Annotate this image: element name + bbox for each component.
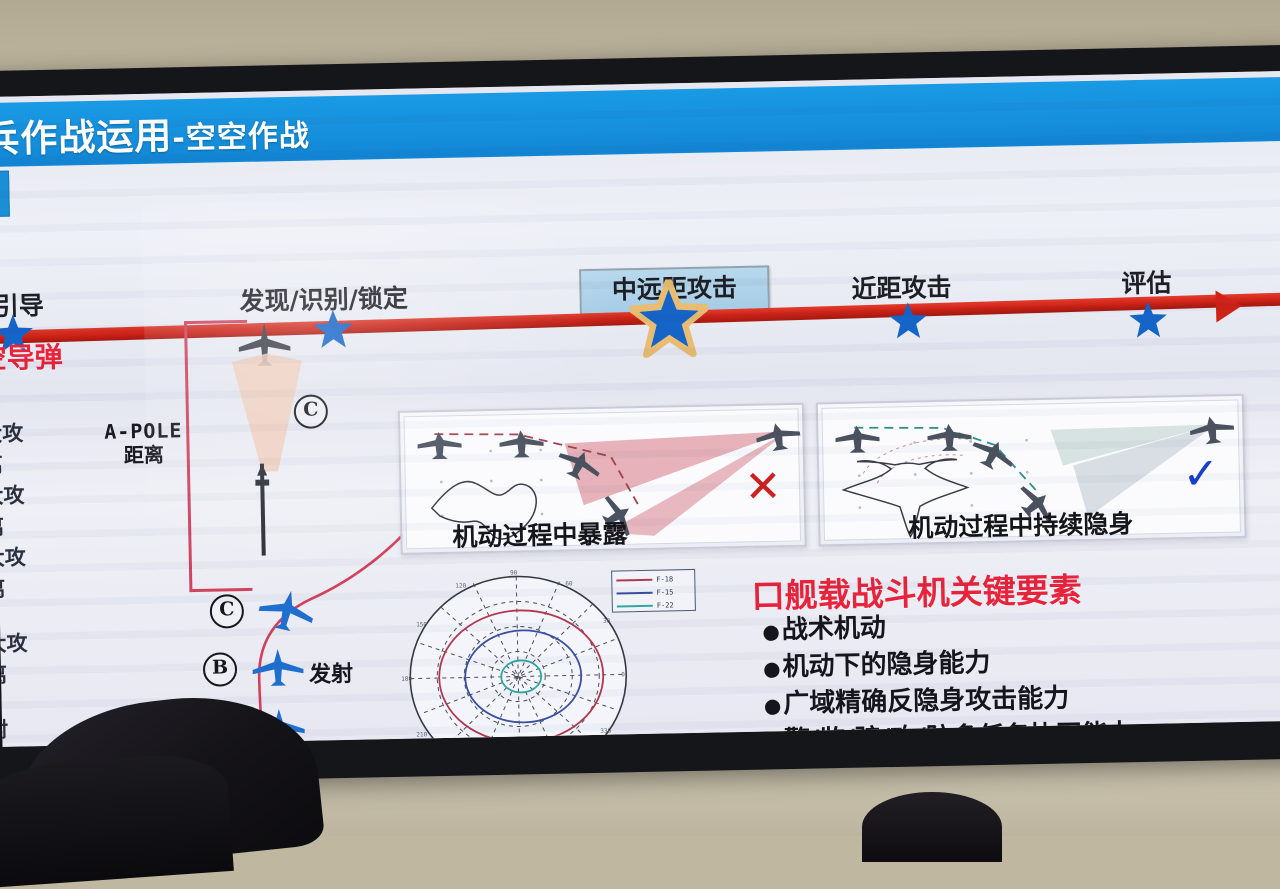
apole-label-en: A-POLE [104,418,183,444]
legend-swatch-2 [617,604,653,607]
legend-label-0: F-18 [656,575,673,583]
svg-text:60: 60 [565,580,573,587]
engagement-diagram: C C B 发射 A [174,318,433,747]
slide-title-separator: - [172,121,186,156]
panel-left-mark-icon: ✕ [744,465,782,510]
range-label-list: 最大攻 距离 最大攻 距离 最大攻 距离 最大攻 距离 发射 距离 [0,420,117,747]
range-label-2: 最大攻 [0,482,112,510]
legend-entry-2: F-22 [617,599,691,611]
timeline-stage-label-4: 评估 [1121,263,1172,300]
svg-text:30: 30 [603,618,611,625]
key-element-label-0: 战术机动 [781,613,886,645]
legend-label-2: F-22 [657,601,674,609]
monitor-bezel: 空兵作战运用-空空作战 挥/引导 发现/识别/锁定 中远距攻击 近距攻击 评估 [0,45,1280,786]
timeline-star-4 [1128,299,1169,340]
range-label-1: 距离 [0,451,111,479]
polar-chart-legend: F-18 F-15 F-22 [611,569,696,613]
svg-text:180: 180 [401,676,412,683]
legend-entry-1: F-15 [616,586,690,598]
range-label-3: 距离 [0,513,112,541]
key-element-label-1: 机动下的隐身能力 [782,648,991,682]
range-label-6: 最大攻 [0,630,115,658]
apole-distance-label: A-POLE 距离 [104,418,183,468]
svg-text:90: 90 [510,569,518,576]
own-aircraft-icon-b [251,647,306,688]
slide-corner-tab [0,171,10,218]
timeline-star-active [629,279,709,359]
key-element-item-0: ●战术机动 [762,606,1132,648]
comparison-panel-stealth: ✓ 机动过程中持续隐身 [816,394,1247,547]
svg-text:330: 330 [600,728,611,735]
range-label-4: 最大攻 [0,544,113,572]
key-elements-list: ●战术机动 ●机动下的隐身能力 ●广域精确反隐身攻击能力 ●警/监/骗/攻/防多… [762,606,1135,747]
timeline-star-3 [888,300,929,341]
air-to-air-missile-label: 空空导弹 [0,336,63,378]
timeline-arrow-head [1215,290,1242,323]
bullet-dot-icon: ● [763,656,781,680]
bullet-dot-icon: ● [762,619,780,643]
legend-label-1: F-15 [656,588,673,596]
panel-right-caption: 机动过程中持续隐身 [908,502,1245,545]
slide-title: 空兵作战运用-空空作战 [0,103,310,164]
bullet-dot-icon: ● [764,693,782,717]
comparison-panel-exposed: ✕ 机动过程中暴露 [398,403,807,555]
svg-text:0: 0 [621,671,625,678]
rcs-polar-chart: 906030 0330300 270240210 180150120 [397,562,639,747]
slide-title-main: 空兵作战运用 [0,114,173,162]
panel-right-mark-icon: ✓ [1182,452,1220,497]
key-element-item-1: ●机动下的隐身能力 [763,643,1133,685]
audience-head-right [862,792,1002,862]
key-element-label-2: 广域精确反隐身攻击能力 [783,683,1070,719]
apole-label-cn: 距离 [104,442,183,468]
legend-swatch-0 [616,578,652,581]
own-aircraft-icon-c [257,589,316,632]
marker-c-upper: C [294,394,329,429]
audience-shoulder-left [0,751,234,889]
svg-text:120: 120 [455,583,466,590]
svg-text:210: 210 [416,731,427,738]
svg-text:150: 150 [416,621,427,628]
range-label-5: 距离 [0,575,114,603]
key-element-item-3: ●警/监/骗/攻/防多任务协同能力 [764,717,1134,747]
slide-title-sub: 空空作战 [185,119,310,156]
range-label-0: 最大攻 [0,420,110,448]
presentation-slide: 空兵作战运用-空空作战 挥/引导 发现/识别/锁定 中远距攻击 近距攻击 评估 [0,71,1280,747]
bullet-dot-icon: ● [764,730,782,747]
key-element-item-2: ●广域精确反隐身攻击能力 [763,680,1133,722]
monitor-screen: 空兵作战运用-空空作战 挥/引导 发现/识别/锁定 中远距攻击 近距攻击 评估 [0,71,1280,747]
launch-label: 发射 [309,656,354,689]
range-label-7: 距离 [0,661,115,689]
legend-entry-0: F-18 [616,573,690,585]
key-element-label-3: 警/监/骗/攻/防多任务协同能力 [784,719,1135,747]
panel-left-caption: 机动过程中暴露 [452,511,805,554]
legend-swatch-1 [617,591,653,594]
